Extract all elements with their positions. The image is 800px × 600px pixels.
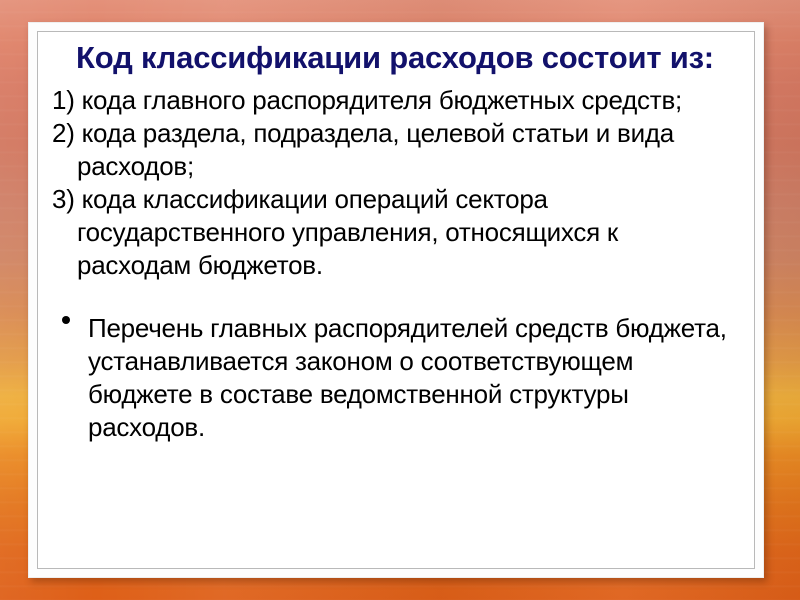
bullet-dot-icon — [62, 316, 70, 324]
slide-panel-frame: Код классификации расходов состоит из: 1… — [28, 22, 764, 578]
slide-panel-inner: Код классификации расходов состоит из: 1… — [37, 31, 755, 569]
paragraph-spacer — [52, 282, 738, 312]
numbered-list: 1) кода главного распорядителя бюджетных… — [52, 84, 738, 282]
slide-background: Код классификации расходов состоит из: 1… — [0, 0, 800, 600]
slide-title: Код классификации расходов состоит из: — [52, 40, 738, 76]
list-item: 2) кода раздела, подраздела, целевой ста… — [52, 117, 738, 183]
bullet-list-item: Перечень главных распорядителей средств … — [52, 312, 738, 444]
list-item: 1) кода главного распорядителя бюджетных… — [52, 84, 738, 117]
bullet-list-item-text: Перечень главных распорядителей средств … — [88, 313, 727, 442]
list-item: 3) кода классификации операций сектора г… — [52, 183, 738, 282]
slide-content: Код классификации расходов состоит из: 1… — [38, 32, 754, 568]
